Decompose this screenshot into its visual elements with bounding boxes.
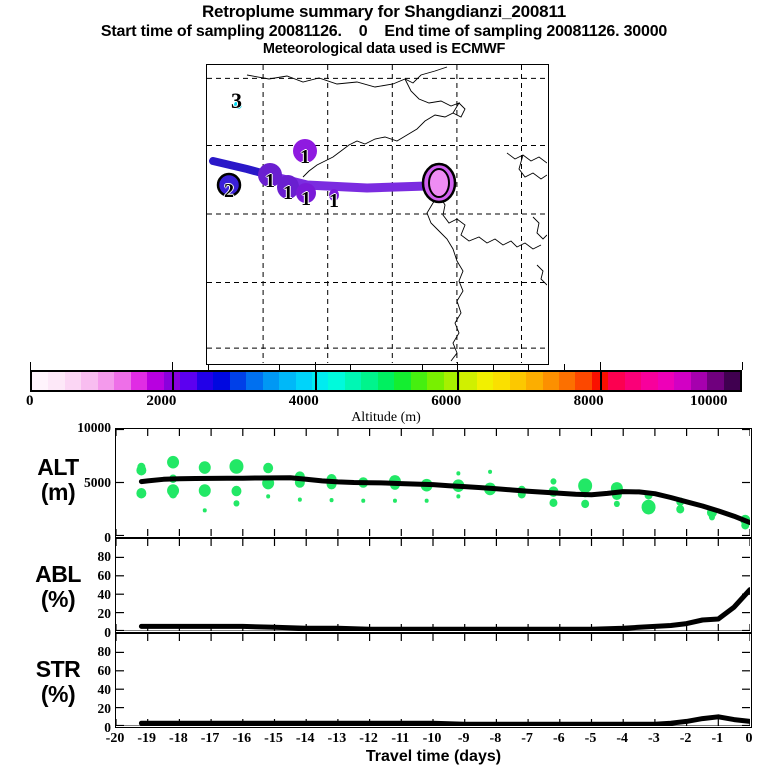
alt-particle-marker-10 [229, 459, 243, 474]
alt-particle-marker-32 [488, 470, 492, 474]
x-tick-label-7: -13 [320, 731, 354, 747]
map-coastline-3 [439, 195, 541, 249]
colorbar-separator-2 [315, 370, 317, 392]
colorbar-swatch-32 [559, 372, 575, 390]
colorbar-swatch-29 [510, 372, 526, 390]
page-title: Retroplume summary for Shangdianzi_20081… [0, 2, 768, 22]
colorbar-swatch-5 [114, 372, 130, 390]
abl-ytick-label-1: 60 [98, 568, 112, 584]
map-blob-label-3: 1 [300, 147, 310, 167]
colorbar-tick-label-4: 8000 [574, 393, 604, 410]
colorbar-swatch-1 [48, 372, 64, 390]
colorbar-swatch-10 [197, 372, 213, 390]
colorbar-swatch-33 [575, 372, 591, 390]
colorbar-tick-2 [315, 362, 316, 370]
colorbar-swatch-42 [724, 372, 740, 390]
colorbar-tick-4 [600, 362, 601, 370]
map-coastline-1 [303, 79, 459, 177]
alt-particle-marker-23 [361, 499, 365, 503]
alt-particle-marker-48 [676, 505, 684, 513]
colorbar-tick-label-2: 4000 [289, 393, 319, 410]
colorbar-minor-tick-6 [564, 364, 565, 370]
x-tick-label-8: -12 [352, 731, 386, 747]
map-blob-label-5: 1 [329, 191, 339, 211]
alt-particle-marker-21 [330, 498, 334, 502]
abl-series-line [141, 590, 750, 630]
x-tick-label-0: -20 [98, 731, 132, 747]
map-coastline-7 [533, 217, 547, 239]
x-axis-title: Travel time (days) [115, 748, 752, 766]
colorbar-swatch-39 [674, 372, 690, 390]
x-tick-label-10: -10 [415, 731, 449, 747]
x-tick-label-11: -9 [447, 731, 481, 747]
colorbar-swatch-11 [213, 372, 229, 390]
alt-particle-marker-18 [298, 498, 302, 502]
colorbar-tick-5 [742, 362, 743, 370]
title-block: Retroplume summary for Shangdianzi_20081… [0, 0, 768, 58]
colorbar-swatch-13 [246, 372, 262, 390]
colorbar-separator-5 [740, 370, 742, 392]
colorbar-tick-0 [30, 362, 31, 370]
retroplume-map[interactable]: 2111113 [206, 64, 549, 365]
colorbar-swatch-12 [230, 372, 246, 390]
alt-particle-marker-1 [136, 465, 146, 476]
map-coastline-0 [247, 67, 447, 87]
colorbar-swatch-6 [131, 372, 147, 390]
str-ytick-label-2: 40 [98, 682, 112, 698]
figure-root: Retroplume summary for Shangdianzi_20081… [0, 0, 768, 768]
colorbar-tick-label-3: 6000 [431, 393, 461, 410]
x-tick-label-14: -6 [542, 731, 576, 747]
x-tick-label-3: -17 [193, 731, 227, 747]
colorbar-swatch-26 [460, 372, 476, 390]
x-tick-label-18: -2 [669, 731, 703, 747]
alt-plot-canvas [116, 429, 750, 536]
alt-particle-marker-29 [456, 471, 460, 475]
abl-plot-canvas [116, 539, 750, 631]
map-canvas [207, 65, 547, 363]
colorbar-swatch-4 [98, 372, 114, 390]
alt-particle-marker-12 [233, 500, 239, 506]
colorbar-swatch-16 [296, 372, 312, 390]
colorbar-tick-label-0: 0 [26, 393, 34, 410]
abl-panel[interactable] [115, 538, 752, 633]
map-coastline-8 [537, 265, 547, 285]
alt-particle-marker-8 [199, 484, 211, 497]
x-tick-label-15: -5 [574, 731, 608, 747]
x-tick-label-16: -4 [605, 731, 639, 747]
colorbar-minor-tick-3 [422, 364, 423, 370]
colorbar-swatch-27 [477, 372, 493, 390]
met-data-line: Meteorological data used is ECMWF [0, 41, 768, 58]
colorbar-swatch-9 [180, 372, 196, 390]
colorbar-swatch-15 [279, 372, 295, 390]
map-coastline-6 [519, 155, 547, 179]
colorbar-swatch-20 [361, 372, 377, 390]
x-tick-label-19: -1 [700, 731, 734, 747]
alt-y-axis-ticks: 1000050000 [0, 428, 111, 538]
str-panel[interactable] [115, 633, 752, 728]
colorbar-swatch-35 [608, 372, 624, 390]
alt-particle-marker-38 [549, 499, 557, 507]
colorbar-swatch-21 [378, 372, 394, 390]
colorbar-tick-label-5: 10000 [690, 393, 728, 410]
map-receptor-core [429, 169, 449, 197]
colorbar-swatch-40 [691, 372, 707, 390]
str-plot-canvas [116, 634, 750, 726]
alt-particle-marker-3 [167, 456, 179, 469]
alt-particle-marker-9 [203, 508, 207, 512]
alt-particle-marker-15 [266, 494, 270, 498]
str-series-line [141, 717, 750, 724]
alt-particle-marker-36 [550, 478, 556, 484]
colorbar-tick-3 [457, 362, 458, 370]
colorbar-tick-label-1: 2000 [146, 393, 176, 410]
map-label-3: 3 [231, 91, 242, 111]
abl-ytick-label-3: 20 [98, 606, 112, 622]
colorbar-gradient [30, 370, 742, 392]
colorbar-title: Altitude (m) [30, 410, 742, 426]
abl-ytick-label-0: 80 [98, 549, 112, 565]
str-y-axis-ticks: 806040200 [0, 633, 111, 728]
map-blob-label-2: 1 [283, 183, 293, 203]
colorbar-swatch-14 [263, 372, 279, 390]
colorbar-swatch-3 [81, 372, 97, 390]
abl-ytick-label-2: 40 [98, 587, 112, 603]
colorbar-separator-1 [172, 370, 174, 392]
colorbar-swatch-24 [427, 372, 443, 390]
colorbar-swatch-7 [147, 372, 163, 390]
x-tick-label-2: -18 [161, 731, 195, 747]
alt-particle-marker-6 [169, 490, 177, 498]
colorbar-minor-tick-5 [528, 364, 529, 370]
alt-particle-marker-2 [136, 488, 146, 499]
alt-particle-marker-13 [263, 463, 273, 474]
colorbar-separator-3 [457, 370, 459, 392]
colorbar-swatch-38 [658, 372, 674, 390]
colorbar-minor-tick-0 [208, 364, 209, 370]
altitude-colorbar: 0200040006000800010000 Altitude (m) [30, 370, 742, 420]
alt-particle-marker-28 [425, 499, 429, 503]
alt-particle-marker-41 [581, 500, 589, 508]
str-ytick-label-0: 80 [98, 644, 112, 660]
alt-particle-marker-44 [614, 501, 620, 507]
x-tick-label-12: -8 [478, 731, 512, 747]
colorbar-swatch-36 [625, 372, 641, 390]
colorbar-swatch-0 [32, 372, 48, 390]
colorbar-swatch-30 [526, 372, 542, 390]
abl-y-axis-ticks: 806040200 [0, 538, 111, 633]
colorbar-swatch-22 [394, 372, 410, 390]
alt-particle-marker-7 [199, 461, 211, 474]
colorbar-tick-1 [172, 362, 173, 370]
x-tick-label-1: -19 [130, 731, 164, 747]
colorbar-swatch-2 [65, 372, 81, 390]
x-tick-label-6: -14 [288, 731, 322, 747]
str-ytick-label-1: 60 [98, 663, 112, 679]
map-blob-label-1: 1 [265, 171, 275, 191]
alt-particle-marker-46 [642, 500, 656, 515]
x-tick-label-13: -7 [510, 731, 544, 747]
colorbar-minor-tick-1 [279, 364, 280, 370]
sampling-time-line: Start time of sampling 20081126. 0 End t… [0, 22, 768, 41]
colorbar-swatch-28 [493, 372, 509, 390]
colorbar-swatch-19 [345, 372, 361, 390]
map-blob-label-4: 1 [301, 189, 311, 209]
colorbar-swatch-41 [707, 372, 723, 390]
x-tick-label-4: -16 [225, 731, 259, 747]
x-tick-label-5: -15 [257, 731, 291, 747]
alt-ytick-label-0: 10000 [77, 420, 111, 436]
x-tick-label-20: 0 [732, 731, 766, 747]
colorbar-minor-tick-2 [350, 364, 351, 370]
map-coastline-5 [507, 153, 547, 163]
colorbar-minor-tick-4 [493, 364, 494, 370]
x-tick-label-9: -11 [383, 731, 417, 747]
alt-panel[interactable] [115, 428, 752, 538]
alt-particle-marker-50 [709, 514, 715, 520]
alt-particle-marker-39 [578, 478, 592, 493]
colorbar-separator-4 [600, 370, 602, 392]
str-ytick-label-3: 20 [98, 701, 112, 717]
alt-mean-line [141, 478, 750, 523]
alt-particle-marker-31 [456, 494, 460, 498]
alt-ytick-label-1: 5000 [84, 475, 111, 491]
colorbar-swatch-37 [641, 372, 657, 390]
colorbar-swatch-18 [328, 372, 344, 390]
alt-particle-marker-11 [231, 486, 241, 497]
colorbar-swatch-31 [543, 372, 559, 390]
alt-particle-marker-26 [393, 499, 397, 503]
colorbar-swatch-23 [411, 372, 427, 390]
x-tick-label-17: -3 [637, 731, 671, 747]
map-blob-label-0: 2 [224, 181, 234, 201]
